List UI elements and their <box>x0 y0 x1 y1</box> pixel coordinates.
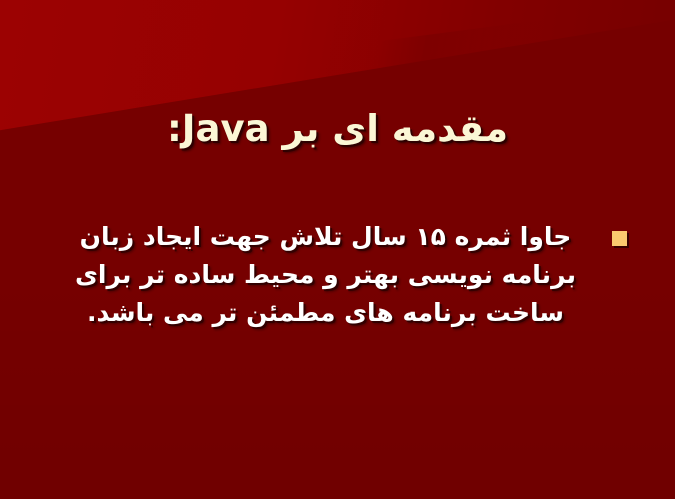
presentation-slide: مقدمه ای بر Java: جاوا ثمره ۱۵ سال تلاش … <box>0 0 675 499</box>
slide-content: مقدمه ای بر Java: جاوا ثمره ۱۵ سال تلاش … <box>0 0 675 499</box>
slide-body-block: جاوا ثمره ۱۵ سال تلاش جهت ایجاد زبان برن… <box>48 218 627 332</box>
bullet-item-text: جاوا ثمره ۱۵ سال تلاش جهت ایجاد زبان برن… <box>48 218 603 332</box>
square-bullet-icon <box>612 231 627 246</box>
slide-title-block: مقدمه ای بر Java: <box>0 110 675 149</box>
slide-title: مقدمه ای بر Java: <box>167 110 508 149</box>
